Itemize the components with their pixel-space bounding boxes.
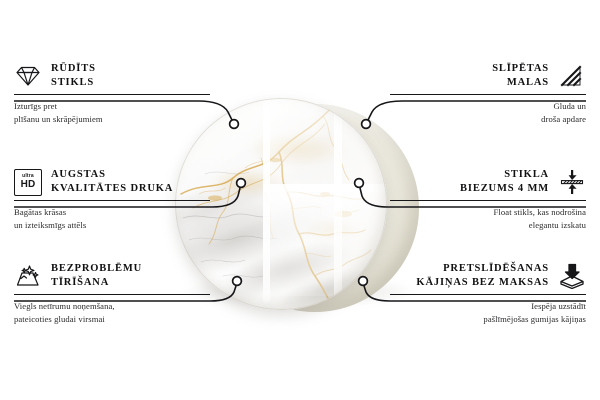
feature-header: ultra HD AUGSTAS KVALITĀTES DRUKA	[14, 167, 210, 197]
feature-title-line: SLĪPĒTAS	[492, 62, 549, 76]
ultra-hd-icon: ultra HD	[14, 168, 42, 196]
feature-desc-line: Float stikls, kas nodrošina	[390, 206, 586, 219]
feature-desc-line: pateicoties gludai virsmai	[14, 313, 210, 326]
feature-description: Bagātas krāsas un izteiksmīgs attēls	[14, 206, 210, 232]
feature-divider	[14, 294, 210, 295]
feature-header: PRETSLĪDĒŠANAS KĀJIŅAS BEZ MAKSAS	[390, 261, 586, 291]
feature-title: AUGSTAS KVALITĀTES DRUKA	[51, 168, 173, 196]
feature-divider	[14, 94, 210, 95]
feature-title: PRETSLĪDĒŠANAS KĀJIŅAS BEZ MAKSAS	[416, 262, 549, 290]
connector-dot-5	[355, 179, 364, 188]
feature-title: STIKLA BIEZUMS 4 MM	[460, 168, 549, 196]
feature-easy-cleaning: BEZPROBLĒMU TĪRĪŠANA Viegls netīrumu noņ…	[14, 261, 210, 326]
feature-desc-line: plīšanu un skrāpējumiem	[14, 113, 210, 126]
feature-title-line: TĪRĪŠANA	[51, 276, 142, 290]
feature-header: SLĪPĒTAS MALAS	[390, 61, 586, 91]
feature-tempered-glass: RŪDĪTS STIKLS Izturīgs pret plīšanu un s…	[14, 61, 210, 126]
feature-desc-line: Viegls netīrumu noņemšana,	[14, 300, 210, 313]
feature-divider	[14, 200, 210, 201]
feature-header: STIKLA BIEZUMS 4 MM	[390, 167, 586, 197]
feature-desc-line: droša apdare	[390, 113, 586, 126]
feature-title: RŪDĪTS STIKLS	[51, 62, 96, 90]
feature-description: Iespēja uzstādīt pašlīmējošas gumijas kā…	[390, 300, 586, 326]
feature-desc-line: un izteiksmīgs attēls	[14, 219, 210, 232]
connector-dot-6	[359, 277, 368, 286]
feature-description: Viegls netīrumu noņemšana, pateicoties g…	[14, 300, 210, 326]
feature-title-line: KVALITĀTES DRUKA	[51, 182, 173, 196]
feature-desc-line: pašlīmējošas gumijas kājiņas	[390, 313, 586, 326]
feature-glass-thickness: STIKLA BIEZUMS 4 MM Float stikls, kas no…	[390, 167, 586, 232]
beveled-edge-icon	[558, 62, 586, 90]
feature-description: Gluda un droša apdare	[390, 100, 586, 126]
feature-title-line: RŪDĪTS	[51, 62, 96, 76]
press-pad-icon	[558, 262, 586, 290]
connector-dot-1	[230, 120, 239, 129]
feature-title-line: STIKLA	[460, 168, 549, 182]
thickness-arrows-icon	[558, 168, 586, 196]
feature-desc-line: Gluda un	[390, 100, 586, 113]
feature-divider	[390, 200, 586, 201]
feature-desc-line: Izturīgs pret	[14, 100, 210, 113]
feature-desc-line: Bagātas krāsas	[14, 206, 210, 219]
feature-description: Izturīgs pret plīšanu un skrāpējumiem	[14, 100, 210, 126]
ultra-hd-large-text: HD	[21, 180, 36, 190]
feature-title-line: STIKLS	[51, 76, 96, 90]
connector-dot-4	[362, 120, 371, 129]
feature-title-line: BIEZUMS 4 MM	[460, 182, 549, 196]
sparkle-surface-icon	[14, 262, 42, 290]
feature-polished-edges: SLĪPĒTAS MALAS Gluda un droša apdare	[390, 61, 586, 126]
feature-desc-line: elegantu izskatu	[390, 219, 586, 232]
feature-title-line: MALAS	[492, 76, 549, 90]
feature-title: BEZPROBLĒMU TĪRĪŠANA	[51, 262, 142, 290]
feature-title-line: KĀJIŅAS BEZ MAKSAS	[416, 276, 549, 290]
feature-divider	[390, 94, 586, 95]
infographic-root: RŪDĪTS STIKLS Izturīgs pret plīšanu un s…	[0, 0, 600, 400]
feature-title-line: BEZPROBLĒMU	[51, 262, 142, 276]
feature-title-line: AUGSTAS	[51, 168, 173, 182]
feature-title-line: PRETSLĪDĒŠANAS	[416, 262, 549, 276]
diamond-icon	[14, 62, 42, 90]
feature-high-quality-print: ultra HD AUGSTAS KVALITĀTES DRUKA Bagāta…	[14, 167, 210, 232]
connector-dot-3	[233, 277, 242, 286]
feature-header: BEZPROBLĒMU TĪRĪŠANA	[14, 261, 210, 291]
feature-title: SLĪPĒTAS MALAS	[492, 62, 549, 90]
feature-anti-slip-feet: PRETSLĪDĒŠANAS KĀJIŅAS BEZ MAKSAS Iespēj…	[390, 261, 586, 326]
connector-dot-2	[237, 179, 246, 188]
feature-desc-line: Iespēja uzstādīt	[390, 300, 586, 313]
feature-divider	[390, 294, 586, 295]
feature-description: Float stikls, kas nodrošina elegantu izs…	[390, 206, 586, 232]
feature-header: RŪDĪTS STIKLS	[14, 61, 210, 91]
